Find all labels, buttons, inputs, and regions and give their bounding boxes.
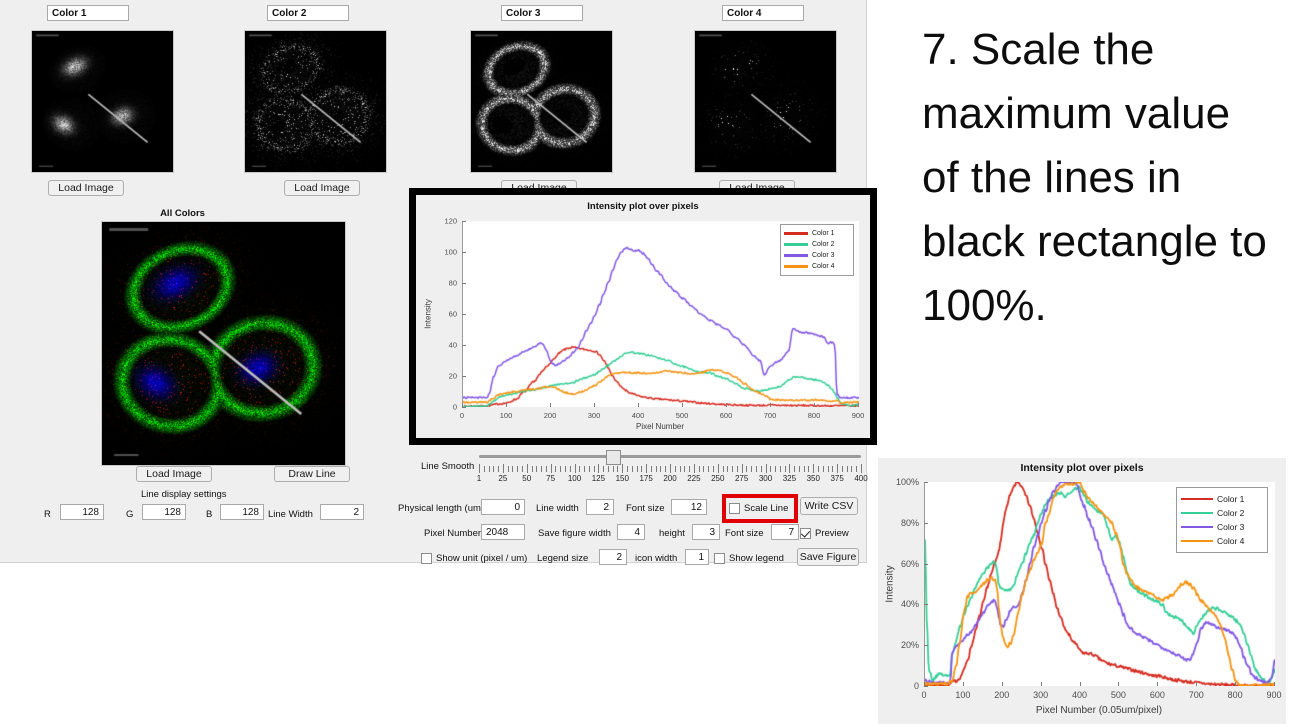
x-tick-label: 600 <box>720 411 733 420</box>
x-tick-label: 500 <box>676 411 689 420</box>
y-tick-mark <box>462 314 466 315</box>
y-tick-label: 0 <box>914 681 919 691</box>
line-smooth-ruler <box>479 464 861 473</box>
line-smooth-tick-labels: 1255075100125150175200225250275300325350… <box>479 474 861 486</box>
x-tick-label: 600 <box>1150 690 1165 700</box>
g-label: G <box>126 509 133 520</box>
y-tick-label: 40% <box>901 599 919 609</box>
x-tick-mark <box>506 403 507 407</box>
line-smooth-label: Line Smooth <box>421 461 474 472</box>
x-tick-label: 700 <box>1189 690 1204 700</box>
legend-color-swatch <box>1181 526 1213 529</box>
legend-item: Color 1 <box>784 228 850 239</box>
show-unit-label: Show unit (pixel / um) <box>436 553 527 564</box>
save-figure-width-label: Save figure width <box>538 528 611 539</box>
y-tick-mark <box>462 376 466 377</box>
chart-legend[interactable]: Color 1Color 2Color 3Color 4 <box>780 224 854 276</box>
composite-title: All Colors <box>0 208 365 219</box>
y-tick-label: 0 <box>453 403 457 412</box>
save-font-size-label: Font size <box>725 528 764 539</box>
composite-thumbnail[interactable] <box>101 221 346 466</box>
r-input[interactable] <box>60 504 104 520</box>
y-tick-label: 100% <box>896 477 919 487</box>
instruction-text: 7. Scale the maximum value of the lines … <box>922 18 1272 338</box>
show-legend-checkbox-box[interactable] <box>714 553 725 564</box>
x-tick-label: 0 <box>460 411 464 420</box>
legend-label: Color 1 <box>1217 494 1244 504</box>
channel-1-load-image-button[interactable]: Load Image <box>48 180 124 196</box>
y-axis-label: Intensity <box>885 565 896 602</box>
save-figure-height-label: height <box>659 528 685 539</box>
x-tick-mark <box>594 403 595 407</box>
legend-item: Color 1 <box>1181 492 1263 506</box>
plot-line-width-label: Line width <box>536 503 579 514</box>
x-tick-label: 400 <box>1072 690 1087 700</box>
x-tick-label: 100 <box>955 690 970 700</box>
channel-4-name-input[interactable] <box>722 5 804 21</box>
black-highlight-rectangle: Intensity plot over pixels01002003004005… <box>409 188 877 445</box>
y-tick-mark <box>462 407 466 408</box>
line-smooth-slider-track[interactable] <box>479 455 861 458</box>
x-tick-label: 0 <box>921 690 926 700</box>
x-tick-label: 200 <box>544 411 557 420</box>
x-tick-mark <box>1080 682 1081 686</box>
font-size-input[interactable] <box>671 499 707 515</box>
x-tick-label: 300 <box>1033 690 1048 700</box>
r-label: R <box>44 509 51 520</box>
legend-label: Color 4 <box>1217 536 1244 546</box>
legend-label: Color 2 <box>812 241 835 248</box>
b-input[interactable] <box>220 504 264 520</box>
x-axis-label: Pixel Number (0.05um/pixel) <box>1036 705 1162 716</box>
scale-line-label: Scale Line <box>744 503 788 514</box>
x-tick-mark <box>550 403 551 407</box>
y-tick-mark <box>924 564 928 565</box>
legend-color-swatch <box>784 265 808 268</box>
y-tick-mark <box>924 523 928 524</box>
y-tick-label: 80 <box>449 279 457 288</box>
x-tick-mark <box>1274 682 1275 686</box>
icon-width-label: icon width <box>635 553 677 564</box>
x-tick-mark <box>638 403 639 407</box>
x-tick-label: 200 <box>994 690 1009 700</box>
y-tick-mark <box>924 686 928 687</box>
line-display-settings-label: Line display settings <box>141 489 227 500</box>
y-tick-mark <box>462 345 466 346</box>
preview-intensity-plot[interactable]: Intensity plot over pixels01002003004005… <box>878 458 1286 724</box>
pixel-number-input[interactable] <box>481 524 525 540</box>
x-tick-mark <box>1196 682 1197 686</box>
line-width-input[interactable] <box>320 504 364 520</box>
x-tick-label: 800 <box>808 411 821 420</box>
main-intensity-plot[interactable]: Intensity plot over pixels01002003004005… <box>416 195 870 438</box>
y-tick-mark <box>462 283 466 284</box>
channel-2-thumbnail[interactable] <box>244 30 387 173</box>
channel-2-name-input[interactable] <box>267 5 349 21</box>
physical-length-label: Physical length (um) <box>398 503 484 514</box>
font-size-label: Font size <box>626 503 665 514</box>
chart-title: Intensity plot over pixels <box>878 462 1286 474</box>
legend-item: Color 3 <box>1181 520 1263 534</box>
channel-3-name-input[interactable] <box>501 5 583 21</box>
scale-line-checkbox[interactable]: Scale Line <box>729 503 788 514</box>
channel-1-name-input[interactable] <box>47 5 129 21</box>
y-tick-label: 60 <box>449 310 457 319</box>
channel-4-thumbnail[interactable] <box>694 30 837 173</box>
pixel-number-label: Pixel Number <box>424 528 481 539</box>
x-axis-label: Pixel Number <box>636 422 684 431</box>
line-width-label: Line Width <box>268 509 313 520</box>
x-tick-mark <box>963 682 964 686</box>
x-tick-label: 900 <box>1266 690 1281 700</box>
channel-2-load-image-button[interactable]: Load Image <box>284 180 360 196</box>
legend-label: Color 3 <box>1217 522 1244 532</box>
save-figure-button[interactable]: Save Figure <box>797 548 859 566</box>
x-tick-mark <box>858 403 859 407</box>
y-tick-label: 20% <box>901 640 919 650</box>
preview-checkbox-box[interactable] <box>800 528 811 539</box>
y-tick-mark <box>924 604 928 605</box>
x-tick-label: 500 <box>1111 690 1126 700</box>
save-figure-height-input[interactable] <box>692 524 720 540</box>
x-tick-mark <box>1002 682 1003 686</box>
channel-1-thumbnail[interactable] <box>31 30 174 173</box>
y-tick-label: 60% <box>901 559 919 569</box>
x-tick-label: 700 <box>764 411 777 420</box>
x-tick-label: 400 <box>632 411 645 420</box>
x-tick-label: 300 <box>588 411 601 420</box>
y-tick-mark <box>462 221 466 222</box>
legend-size-label: Legend size <box>537 553 588 564</box>
legend-color-swatch <box>784 232 808 235</box>
save-font-size-input[interactable] <box>771 524 799 540</box>
x-tick-mark <box>726 403 727 407</box>
y-tick-mark <box>462 252 466 253</box>
composite-load-image-button[interactable]: Load Image <box>136 466 212 482</box>
scale-line-checkbox-box[interactable] <box>729 503 740 514</box>
legend-color-swatch <box>1181 512 1213 515</box>
legend-item: Color 2 <box>1181 506 1263 520</box>
legend-color-swatch <box>1181 498 1213 501</box>
show-legend-checkbox[interactable]: Show legend <box>714 553 784 564</box>
y-tick-label: 20 <box>449 372 457 381</box>
x-tick-label: 800 <box>1228 690 1243 700</box>
x-tick-label: 900 <box>852 411 865 420</box>
legend-label: Color 1 <box>812 230 835 237</box>
channel-3-thumbnail[interactable] <box>470 30 613 173</box>
x-tick-mark <box>1235 682 1236 686</box>
y-tick-label: 80% <box>901 518 919 528</box>
x-tick-mark <box>1157 682 1158 686</box>
x-tick-mark <box>814 403 815 407</box>
y-axis-label: Intensity <box>424 299 433 329</box>
show-legend-label: Show legend <box>729 553 784 564</box>
legend-color-swatch <box>1181 540 1213 543</box>
preview-checkbox[interactable]: Preview <box>800 528 849 539</box>
legend-color-swatch <box>784 254 808 257</box>
y-tick-mark <box>924 645 928 646</box>
y-tick-label: 40 <box>449 341 457 350</box>
legend-color-swatch <box>784 243 808 246</box>
x-tick-mark <box>1118 682 1119 686</box>
save-figure-width-input[interactable] <box>617 524 645 540</box>
legend-item: Color 2 <box>784 239 850 250</box>
legend-item: Color 3 <box>784 250 850 261</box>
preview-label: Preview <box>815 528 849 539</box>
x-tick-label: 100 <box>500 411 513 420</box>
x-tick-mark <box>1041 682 1042 686</box>
plot-line-width-input[interactable] <box>586 499 614 515</box>
chart-legend[interactable]: Color 1Color 2Color 3Color 4 <box>1176 487 1268 553</box>
show-unit-checkbox-box[interactable] <box>421 553 432 564</box>
legend-size-input[interactable] <box>599 549 627 565</box>
x-tick-mark <box>682 403 683 407</box>
g-input[interactable] <box>142 504 186 520</box>
chart-title: Intensity plot over pixels <box>416 201 870 212</box>
draw-line-button[interactable]: Draw Line <box>274 466 350 482</box>
x-tick-mark <box>770 403 771 407</box>
legend-label: Color 3 <box>812 252 835 259</box>
icon-width-input[interactable] <box>685 549 709 565</box>
legend-label: Color 2 <box>1217 508 1244 518</box>
y-tick-label: 100 <box>444 248 457 257</box>
y-tick-mark <box>924 482 928 483</box>
legend-item: Color 4 <box>784 261 850 272</box>
physical-length-input[interactable] <box>481 499 525 515</box>
y-tick-label: 120 <box>444 217 457 226</box>
write-csv-button[interactable]: Write CSV <box>800 497 858 515</box>
legend-label: Color 4 <box>812 263 835 270</box>
legend-item: Color 4 <box>1181 534 1263 548</box>
b-label: B <box>206 509 212 520</box>
line-smooth-slider-knob[interactable] <box>606 450 621 465</box>
show-unit-checkbox[interactable]: Show unit (pixel / um) <box>421 553 527 564</box>
